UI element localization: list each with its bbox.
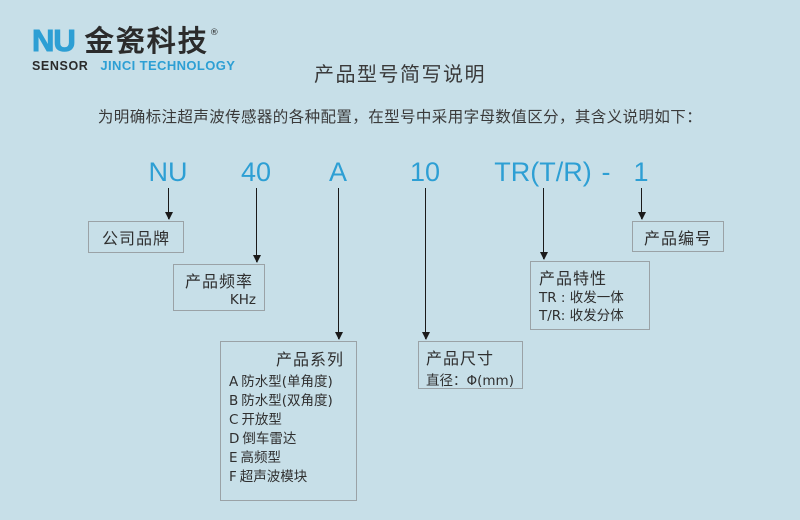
arrow-to-feature-box [543,188,544,259]
code-token-feature: TR(T/R) [494,157,591,188]
feature-box-line-tr: TR : 收发一体 [539,289,641,307]
series-item: A防水型(单角度) [229,373,348,392]
code-token-frequency: 40 [241,157,271,188]
series-item-code: F [229,469,237,485]
code-token-serial: 1 [633,157,648,188]
series-item-code: A [229,374,238,390]
series-item-label: 防水型(单角度) [241,374,333,390]
page-title: 产品型号简写说明 [0,58,800,87]
code-token-size: 10 [410,157,440,188]
arrow-to-size-box [425,188,426,339]
arrow-to-brand-box [168,188,169,219]
series-item: B防水型(双角度) [229,392,348,411]
series-item: D倒车雷达 [229,430,348,449]
arrow-to-serial-box [641,188,642,219]
brand-box-title: 公司品牌 [102,225,170,249]
series-box-title: 产品系列 [229,346,348,370]
series-box: 产品系列 A防水型(单角度) B防水型(双角度) C开放型 D倒车雷达 E高频型… [220,341,357,501]
size-box-title: 产品尺寸 [426,345,515,369]
series-item-code: E [229,450,238,466]
series-item-code: D [229,431,239,447]
size-box: 产品尺寸 直径：Φ(mm) [418,341,523,389]
feature-box: 产品特性 TR : 收发一体 T/R: 收发分体 [530,261,650,330]
series-item-label: 防水型(双角度) [241,393,333,409]
serial-box: 产品编号 [632,221,724,252]
series-item: C开放型 [229,411,348,430]
serial-box-title: 产品编号 [644,225,712,249]
feature-box-title: 产品特性 [539,265,641,289]
code-token-brand: NU [149,157,188,188]
feature-box-line-t-r: T/R: 收发分体 [539,307,641,325]
frequency-box-title: 产品频率 [180,268,258,292]
series-item: F超声波模块 [229,468,348,487]
arrow-to-series-box [338,188,339,339]
logo-nu-mark: NU [32,26,75,56]
series-item-label: 开放型 [241,412,282,428]
series-item-label: 高频型 [241,450,282,466]
logo-chinese-name: 金瓷科技® [85,26,220,56]
arrow-to-frequency-box [256,188,257,262]
diagram-page: NU 金瓷科技® SENSOR JINCI TECHNOLOGY 产品型号简写说… [0,0,800,520]
frequency-box: 产品频率 KHz [173,264,265,311]
size-box-detail: 直径：Φ(mm) [426,369,515,389]
code-token-series: A [329,157,347,188]
series-item-label: 倒车雷达 [242,431,296,447]
series-item-code: B [229,393,238,409]
logo-primary-row: NU 金瓷科技® [32,26,220,56]
series-item-code: C [229,412,238,428]
code-token-dash: - [602,157,611,188]
logo-chinese-text: 金瓷科技 [85,24,209,58]
series-item: E高频型 [229,449,348,468]
brand-box: 公司品牌 [88,221,184,253]
frequency-box-unit: KHz [180,292,258,308]
registered-trademark-icon: ® [210,28,221,38]
page-subtitle: 为明确标注超声波传感器的各种配置，在型号中采用字母数值区分，其含义说明如下： [0,105,800,127]
series-item-label: 超声波模块 [240,469,308,485]
